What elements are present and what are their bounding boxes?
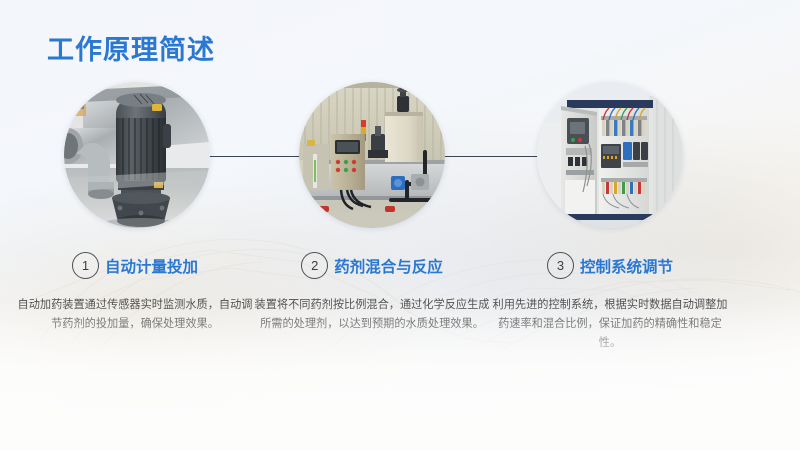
step-1-header: 1 自动计量投加 bbox=[5, 252, 265, 279]
step-3-body: 利用先进的控制系统，根据实时数据自动调整加药速率和混合比例，保证加药的精确性和稳… bbox=[480, 296, 740, 353]
pump-motor-photo bbox=[64, 82, 210, 228]
step-1-heading: 自动计量投加 bbox=[105, 255, 198, 277]
step-3-header: 3 控制系统调节 bbox=[480, 252, 740, 279]
step-1-body: 自动加药装置通过传感器实时监测水质，自动调节药剂的投加量，确保处理效果。 bbox=[5, 296, 265, 334]
step-2-heading: 药剂混合与反应 bbox=[334, 255, 443, 277]
step-3-number-badge: 3 bbox=[547, 252, 574, 279]
connector-line-2-3 bbox=[440, 156, 545, 157]
electrical-control-cabinet-photo bbox=[537, 82, 683, 228]
step-2-header: 2 药剂混合与反应 bbox=[242, 252, 502, 279]
step-1-number-badge: 1 bbox=[72, 252, 99, 279]
slide-canvas: 工作原理简述 bbox=[0, 0, 800, 450]
page-title: 工作原理简述 bbox=[47, 28, 215, 67]
dosing-tank-control-panel-photo bbox=[299, 82, 445, 228]
step-2-number-badge: 2 bbox=[301, 252, 328, 279]
connector-line-1-2 bbox=[205, 156, 307, 157]
step-2-body: 装置将不同药剂按比例混合，通过化学反应生成所需的处理剂，以达到预期的水质处理效果… bbox=[242, 296, 502, 334]
step-3-heading: 控制系统调节 bbox=[580, 255, 673, 277]
